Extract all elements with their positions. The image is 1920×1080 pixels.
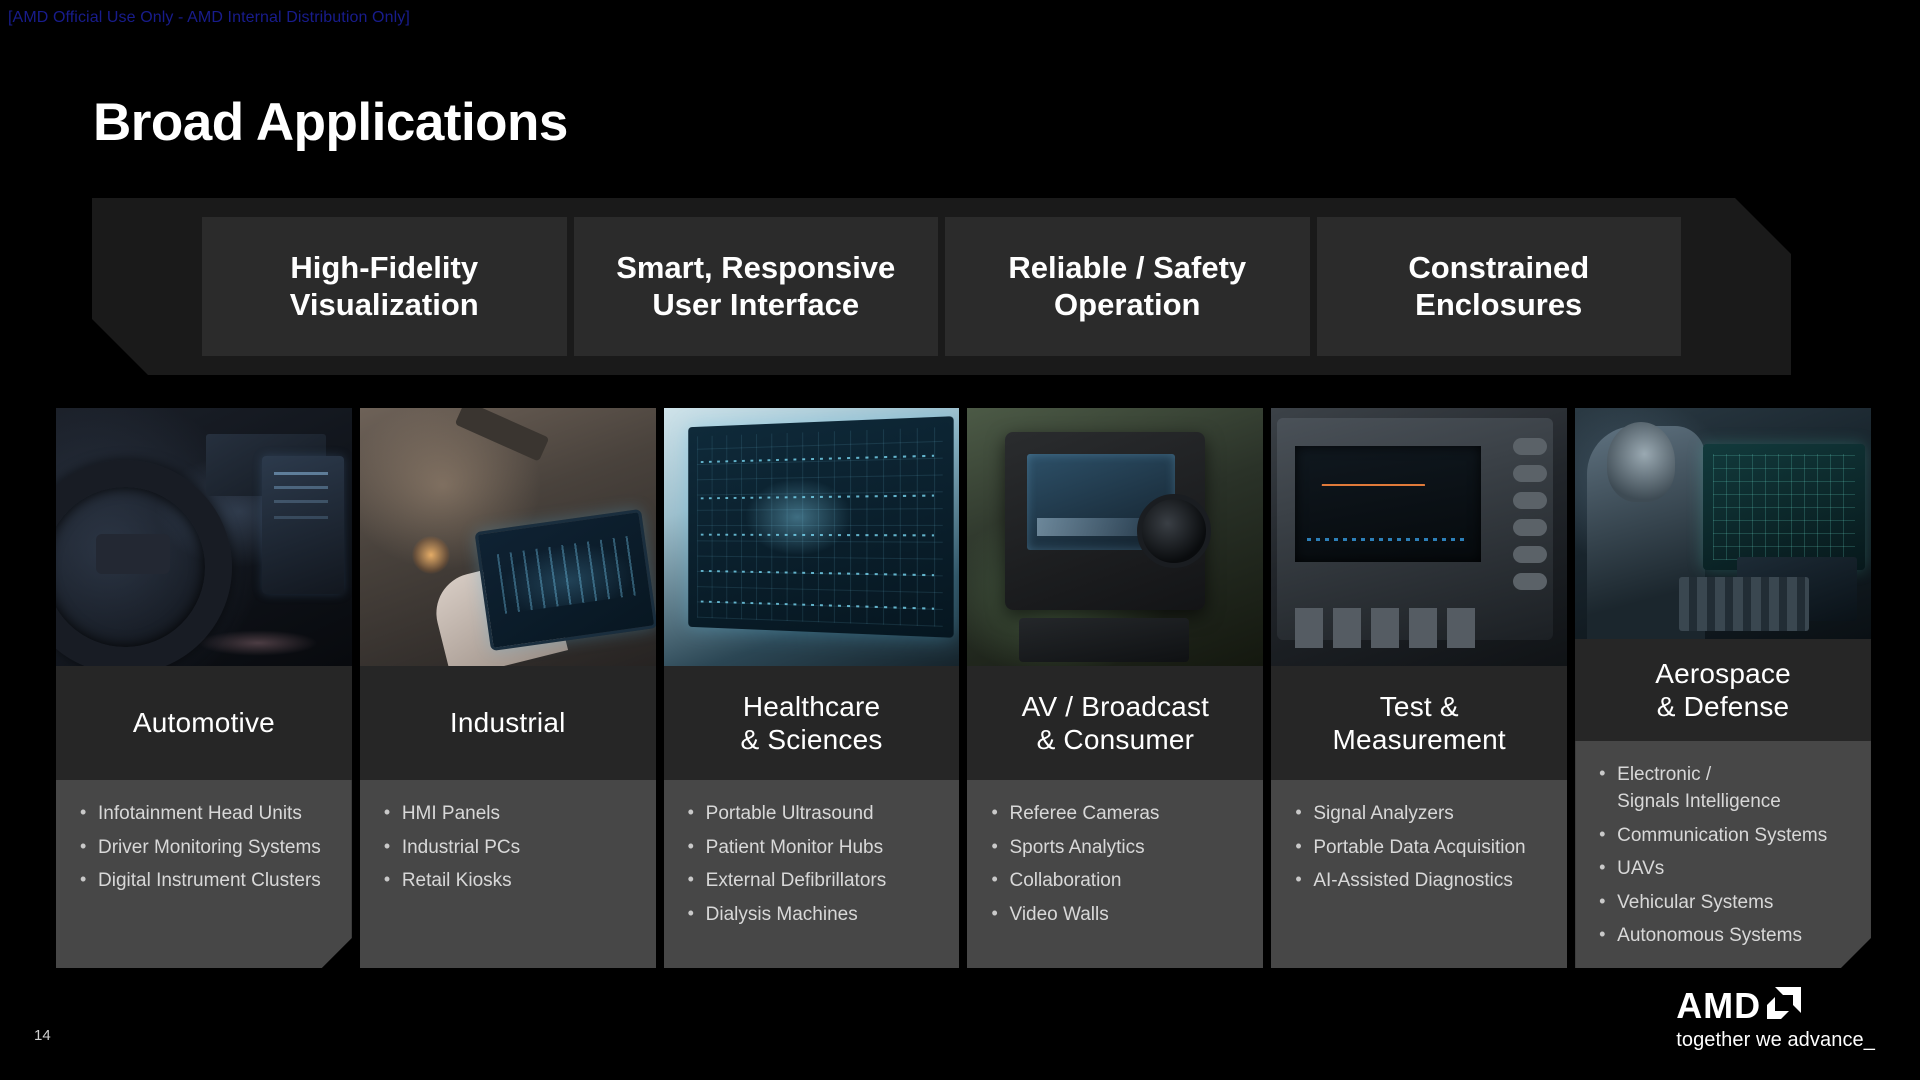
application-card-automotive: Automotive Infotainment Head Units Drive… bbox=[56, 408, 352, 968]
slide-number: 14 bbox=[34, 1027, 51, 1044]
list-item: Driver Monitoring Systems bbox=[78, 834, 332, 862]
list-item: External Defibrillators bbox=[686, 867, 940, 895]
list-item: HMI Panels bbox=[382, 800, 636, 828]
aerospace-operator-console-photo bbox=[1575, 408, 1871, 639]
amd-tagline: together we advance_ bbox=[1676, 1029, 1875, 1052]
card-title-test-measurement: Test & Measurement bbox=[1271, 666, 1567, 780]
list-item: Referee Cameras bbox=[989, 800, 1243, 828]
application-card-av-broadcast-consumer: AV / Broadcast & Consumer Referee Camera… bbox=[967, 408, 1263, 968]
card-title-healthcare-sciences: Healthcare & Sciences bbox=[664, 666, 960, 780]
list-item: Portable Data Acquisition bbox=[1293, 834, 1547, 862]
list-item: Retail Kiosks bbox=[382, 867, 636, 895]
card-bullets-aerospace-defense: Electronic / Signals Intelligence Commun… bbox=[1575, 741, 1871, 968]
attribute-row: High-Fidelity Visualization Smart, Respo… bbox=[92, 198, 1791, 375]
application-card-aerospace-defense: Aerospace & Defense Electronic / Signals… bbox=[1575, 408, 1871, 968]
list-item: Portable Ultrasound bbox=[686, 800, 940, 828]
list-item: Vehicular Systems bbox=[1597, 889, 1851, 917]
list-item: UAVs bbox=[1597, 855, 1851, 883]
card-bullets-automotive: Infotainment Head Units Driver Monitorin… bbox=[56, 780, 352, 968]
list-item: Patient Monitor Hubs bbox=[686, 834, 940, 862]
card-bullets-healthcare-sciences: Portable Ultrasound Patient Monitor Hubs… bbox=[664, 780, 960, 968]
healthcare-medical-monitor-photo bbox=[664, 408, 960, 666]
list-item: Collaboration bbox=[989, 867, 1243, 895]
automotive-car-interior-photo bbox=[56, 408, 352, 666]
industrial-factory-tablet-photo bbox=[360, 408, 656, 666]
list-item: Digital Instrument Clusters bbox=[78, 867, 332, 895]
list-item: Industrial PCs bbox=[382, 834, 636, 862]
slide-canvas: [AMD Official Use Only - AMD Internal Di… bbox=[0, 0, 1920, 1080]
broadcast-camera-photo bbox=[967, 408, 1263, 666]
attribute-box-reliable-safety-operation: Reliable / Safety Operation bbox=[945, 217, 1310, 356]
attribute-box-constrained-enclosures: Constrained Enclosures bbox=[1317, 217, 1682, 356]
card-title-aerospace-defense: Aerospace & Defense bbox=[1575, 639, 1871, 741]
list-item: Signal Analyzers bbox=[1293, 800, 1547, 828]
list-item: Electronic / Signals Intelligence bbox=[1597, 761, 1851, 816]
application-card-healthcare-sciences: Healthcare & Sciences Portable Ultrasoun… bbox=[664, 408, 960, 968]
amd-logo-text: AMD bbox=[1676, 988, 1761, 1024]
card-bullets-av-broadcast-consumer: Referee Cameras Sports Analytics Collabo… bbox=[967, 780, 1263, 968]
list-item: Dialysis Machines bbox=[686, 901, 940, 929]
list-item: Video Walls bbox=[989, 901, 1243, 929]
page-title: Broad Applications bbox=[93, 92, 568, 153]
attribute-banner: High-Fidelity Visualization Smart, Respo… bbox=[92, 198, 1791, 375]
card-title-industrial: Industrial bbox=[360, 666, 656, 780]
list-item: Autonomous Systems bbox=[1597, 922, 1851, 950]
application-card-industrial: Industrial HMI Panels Industrial PCs Ret… bbox=[360, 408, 656, 968]
attribute-box-high-fidelity-visualization: High-Fidelity Visualization bbox=[202, 217, 567, 356]
oscilloscope-test-equipment-photo bbox=[1271, 408, 1567, 666]
application-card-row: Automotive Infotainment Head Units Drive… bbox=[56, 408, 1871, 968]
attribute-box-smart-responsive-user-interface: Smart, Responsive User Interface bbox=[574, 217, 939, 356]
list-item: Infotainment Head Units bbox=[78, 800, 332, 828]
list-item: AI-Assisted Diagnostics bbox=[1293, 867, 1547, 895]
card-bullets-industrial: HMI Panels Industrial PCs Retail Kiosks bbox=[360, 780, 656, 968]
amd-arrow-icon bbox=[1767, 987, 1801, 1024]
card-bullets-test-measurement: Signal Analyzers Portable Data Acquisiti… bbox=[1271, 780, 1567, 968]
card-title-av-broadcast-consumer: AV / Broadcast & Consumer bbox=[967, 666, 1263, 780]
list-item: Communication Systems bbox=[1597, 822, 1851, 850]
card-title-automotive: Automotive bbox=[56, 666, 352, 780]
list-item: Sports Analytics bbox=[989, 834, 1243, 862]
amd-wordmark: AMD bbox=[1676, 987, 1875, 1024]
amd-logo: AMD together we advance_ bbox=[1676, 987, 1875, 1052]
classification-banner: [AMD Official Use Only - AMD Internal Di… bbox=[8, 9, 410, 27]
application-card-test-measurement: Test & Measurement Signal Analyzers Port… bbox=[1271, 408, 1567, 968]
